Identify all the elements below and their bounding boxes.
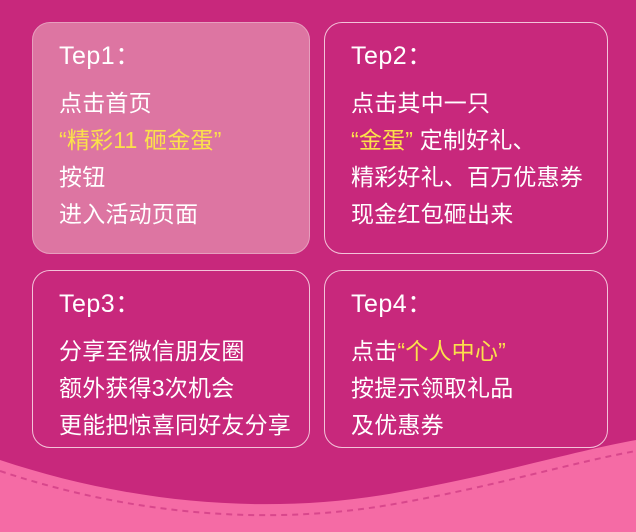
step-line-text: 点击	[351, 338, 397, 364]
step-card-4: Tep4： 点击“个人中心” 按提示领取礼品 及优惠券	[324, 270, 608, 448]
promo-steps-banner: Tep1： 点击首页 “精彩11 砸金蛋” 按钮 进入活动页面 Tep2： 点击…	[0, 0, 636, 532]
step-line: 点击首页	[59, 85, 287, 122]
step-line-text: 定制好礼、	[413, 127, 536, 153]
step-line: 点击“个人中心”	[351, 333, 585, 370]
step-line: “金蛋” 定制好礼、	[351, 122, 585, 159]
step-label-2: Tep2：	[351, 41, 585, 71]
step-card-1: Tep1： 点击首页 “精彩11 砸金蛋” 按钮 进入活动页面	[32, 22, 310, 254]
step-line: 分享至微信朋友圈	[59, 333, 287, 370]
step-line-highlight: “金蛋”	[351, 127, 413, 153]
step-line: 及优惠券	[351, 407, 585, 444]
step-card-3: Tep3： 分享至微信朋友圈 额外获得3次机会 更能把惊喜同好友分享	[32, 270, 310, 448]
wave-dashed-line	[0, 451, 636, 515]
step-line-highlight: “精彩11 砸金蛋”	[59, 122, 287, 159]
step-line: 进入活动页面	[59, 196, 287, 233]
step-label-4: Tep4：	[351, 289, 585, 319]
step-line: 点击其中一只	[351, 85, 585, 122]
step-line: 精彩好礼、百万优惠券	[351, 159, 585, 196]
step-body-4: 点击“个人中心” 按提示领取礼品 及优惠券	[351, 333, 585, 444]
step-body-2: 点击其中一只 “金蛋” 定制好礼、 精彩好礼、百万优惠券 现金红包砸出来	[351, 85, 585, 233]
step-body-3: 分享至微信朋友圈 额外获得3次机会 更能把惊喜同好友分享	[59, 333, 287, 444]
step-line: 更能把惊喜同好友分享	[59, 407, 287, 444]
step-line: 按钮	[59, 159, 287, 196]
step-line: 按提示领取礼品	[351, 370, 585, 407]
step-line-highlight: “个人中心”	[397, 338, 506, 364]
step-line: 现金红包砸出来	[351, 196, 585, 233]
step-body-1: 点击首页 “精彩11 砸金蛋” 按钮 进入活动页面	[59, 85, 287, 233]
wave-shape	[0, 440, 636, 532]
step-line: 额外获得3次机会	[59, 370, 287, 407]
step-card-2: Tep2： 点击其中一只 “金蛋” 定制好礼、 精彩好礼、百万优惠券 现金红包砸…	[324, 22, 608, 254]
step-label-3: Tep3：	[59, 289, 287, 319]
step-label-1: Tep1：	[59, 41, 287, 71]
